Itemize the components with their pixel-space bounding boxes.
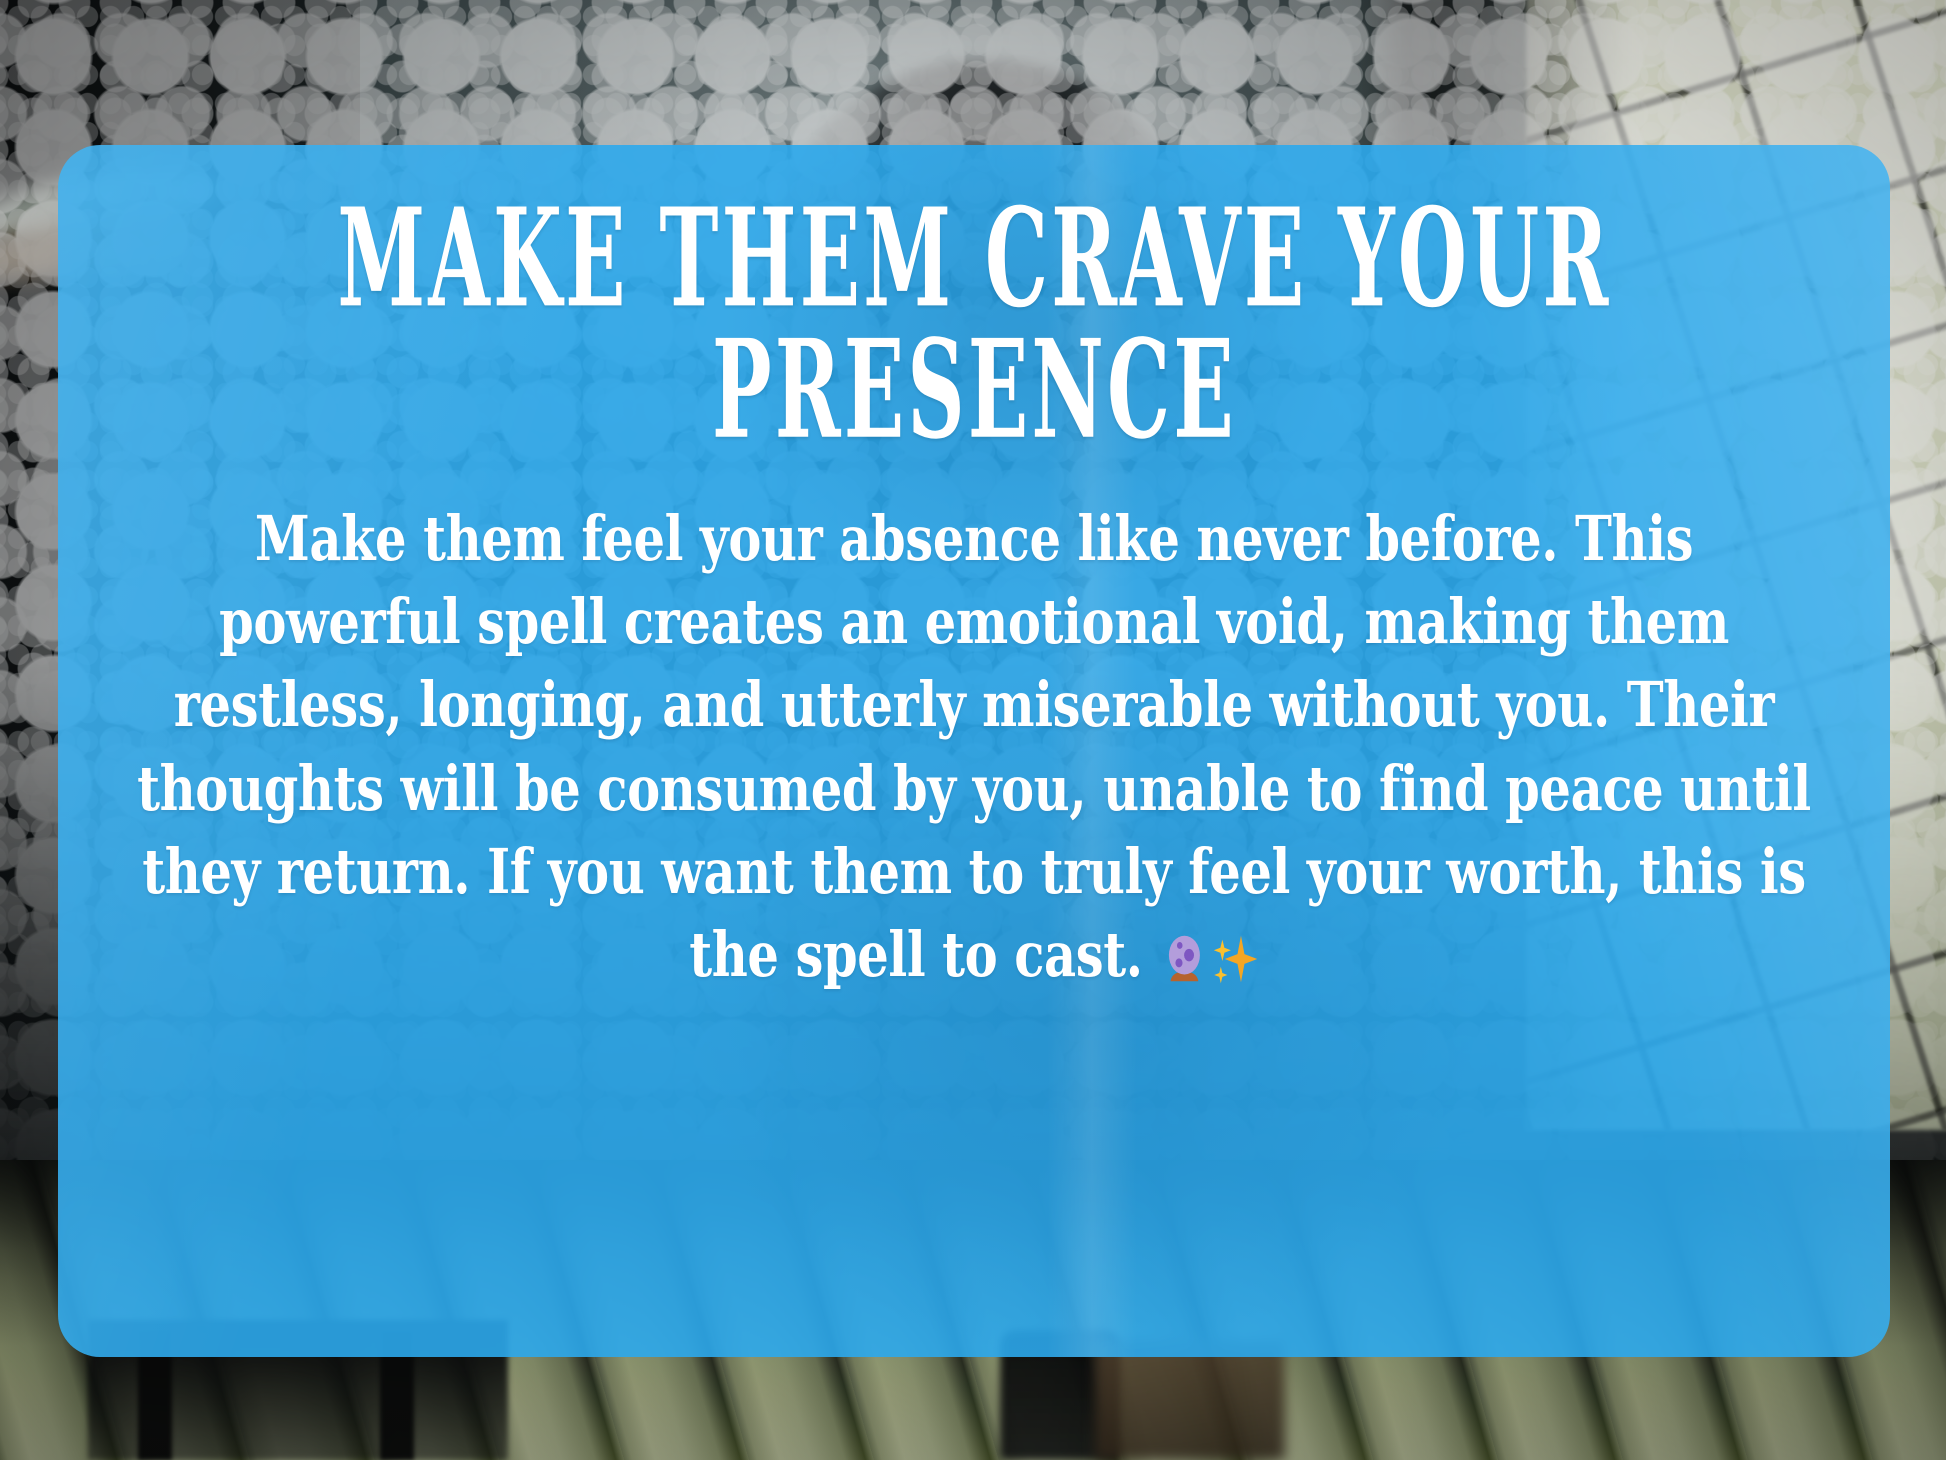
body-paragraph: Make them feel your absence like never b… (130, 497, 1818, 995)
poster-canvas: MAKE THEM CRAVE YOUR PRESENCE Make them … (0, 0, 1946, 1460)
content-card: MAKE THEM CRAVE YOUR PRESENCE Make them … (58, 145, 1890, 1357)
sparkles-icon (1209, 928, 1259, 990)
body-paragraph-text: Make them feel your absence like never b… (137, 502, 1811, 990)
crystal-ball-icon (1160, 928, 1210, 990)
page-title: MAKE THEM CRAVE YOUR PRESENCE (137, 193, 1811, 456)
emoji-group (1160, 918, 1259, 991)
